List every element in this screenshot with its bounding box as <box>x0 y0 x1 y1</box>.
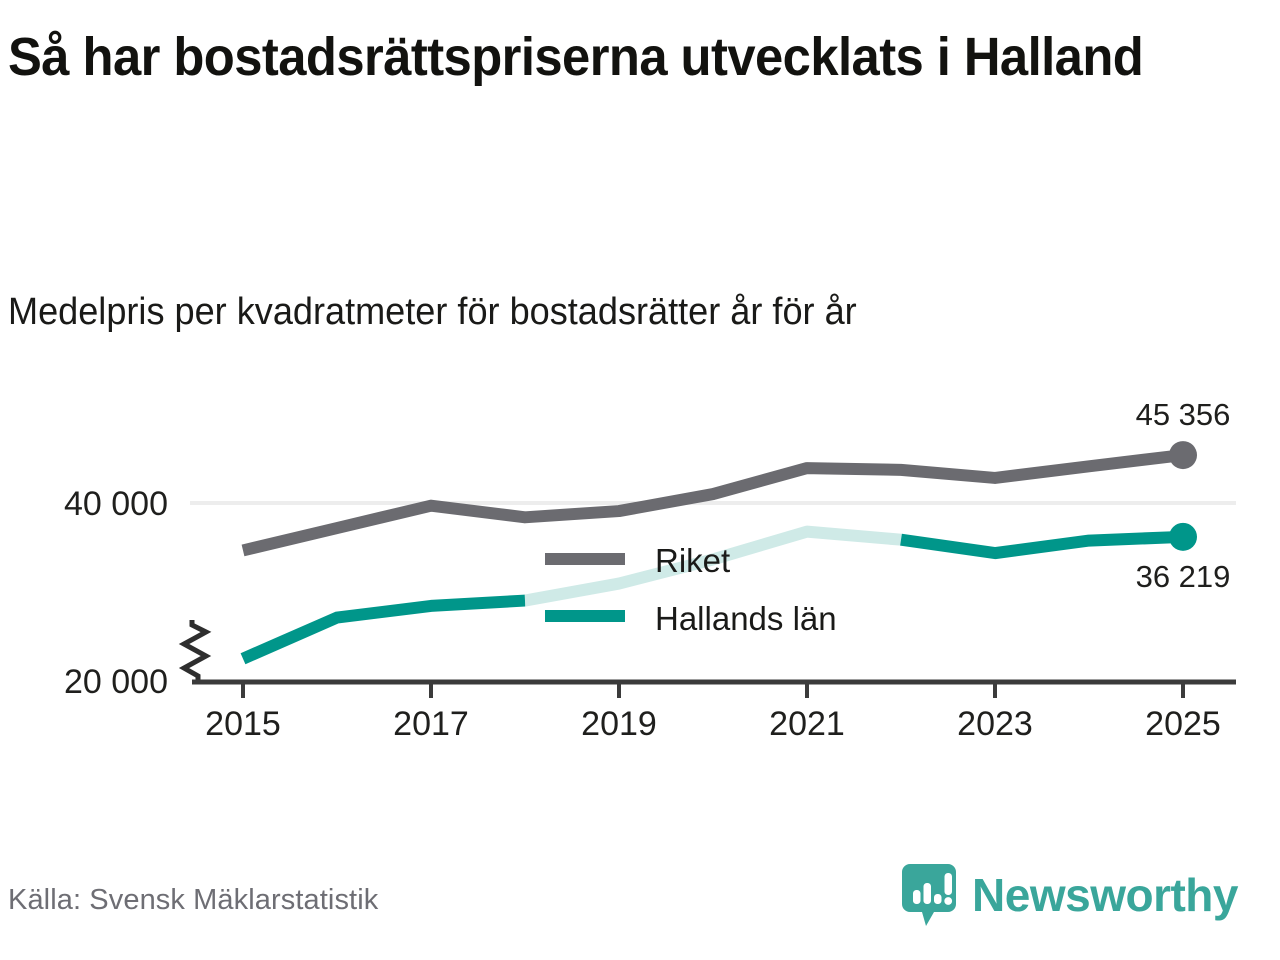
value-label-hallands-lan: 36 219 <box>1136 559 1231 594</box>
x-tick-label-2021: 2021 <box>769 705 845 743</box>
newsworthy-logo: Newsworthy <box>900 862 1238 928</box>
series-line-hallands-lan-late <box>901 537 1183 553</box>
source-note: Källa: Svensk Mäklarstatistik <box>8 884 378 917</box>
x-tick-label-2023: 2023 <box>957 705 1033 743</box>
x-tick-label-2019: 2019 <box>581 705 657 743</box>
legend-label-hallands-lan: Hallands län <box>655 600 837 637</box>
chart-svg: 40 000 20 000 2015 2017 2019 2021 2023 2… <box>0 380 1280 760</box>
series-line-hallands-lan-early <box>243 601 525 659</box>
brand-wordmark: Newsworthy <box>972 872 1238 918</box>
y-tick-label-40000: 40 000 <box>64 485 168 523</box>
value-label-riket: 45 356 <box>1136 397 1231 432</box>
end-point-marker-riket <box>1169 441 1197 469</box>
y-tick-label-20000: 20 000 <box>64 663 168 701</box>
y-axis-break-icon <box>184 620 206 682</box>
x-tick-label-2015: 2015 <box>205 705 281 743</box>
x-tick-label-2017: 2017 <box>393 705 469 743</box>
chart-page: Så har bostadsrättspriserna utvecklats i… <box>0 0 1280 960</box>
x-tick-label-2025: 2025 <box>1145 705 1221 743</box>
line-chart: 40 000 20 000 2015 2017 2019 2021 2023 2… <box>0 380 1280 760</box>
end-point-marker-hallands-lan <box>1169 523 1197 551</box>
legend-label-riket: Riket <box>655 542 730 579</box>
chart-subtitle: Medelpris per kvadratmeter för bostadsrä… <box>8 290 1209 336</box>
page-title: Så har bostadsrättspriserna utvecklats i… <box>8 26 1196 90</box>
newsworthy-speech-bubble-bar-chart-icon <box>900 862 958 928</box>
